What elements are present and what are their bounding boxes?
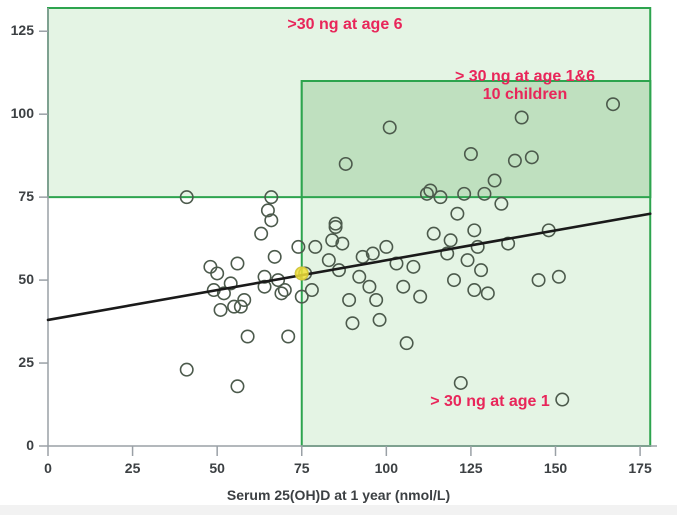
annotation-age1-and-6: > 30 ng at age 1&6 10 children <box>390 68 660 105</box>
x-axis-tick-label: 175 <box>610 460 670 476</box>
data-point <box>231 257 243 269</box>
y-axis-tick-label: 125 <box>0 22 34 38</box>
data-point <box>211 267 223 279</box>
annotation-age6: >30 ng at age 6 <box>180 16 510 34</box>
window-bottom-strip <box>0 505 677 515</box>
data-point <box>214 304 226 316</box>
y-axis-tick-label: 0 <box>0 437 34 453</box>
data-point <box>255 227 267 239</box>
y-axis-tick-label: 100 <box>0 105 34 121</box>
y-axis-tick-label: 50 <box>0 271 34 287</box>
data-point <box>231 380 243 392</box>
y-axis-tick-label: 75 <box>0 188 34 204</box>
annotation-age1: > 30 ng at age 1 <box>360 393 620 411</box>
data-point <box>268 251 280 263</box>
x-axis-tick-label: 150 <box>526 460 586 476</box>
x-axis-tick-label: 50 <box>187 460 247 476</box>
x-axis-tick-label: 100 <box>356 460 416 476</box>
data-point <box>241 330 253 342</box>
data-point <box>279 284 291 296</box>
x-axis-title: Serum 25(OH)D at 1 year (nmol/L) <box>0 487 677 503</box>
data-point <box>282 330 294 342</box>
data-point <box>181 363 193 375</box>
chart-container: Serum 25(OH)D at 1 year (nmol/L) >30 ng … <box>0 0 677 515</box>
y-axis-tick-label: 25 <box>0 354 34 370</box>
data-point <box>275 287 287 299</box>
x-axis-tick-label: 125 <box>441 460 501 476</box>
highlight-marker <box>295 266 309 280</box>
x-axis-tick-label: 75 <box>272 460 332 476</box>
x-axis-tick-label: 0 <box>18 460 78 476</box>
x-axis-tick-label: 25 <box>103 460 163 476</box>
data-point <box>204 261 216 273</box>
